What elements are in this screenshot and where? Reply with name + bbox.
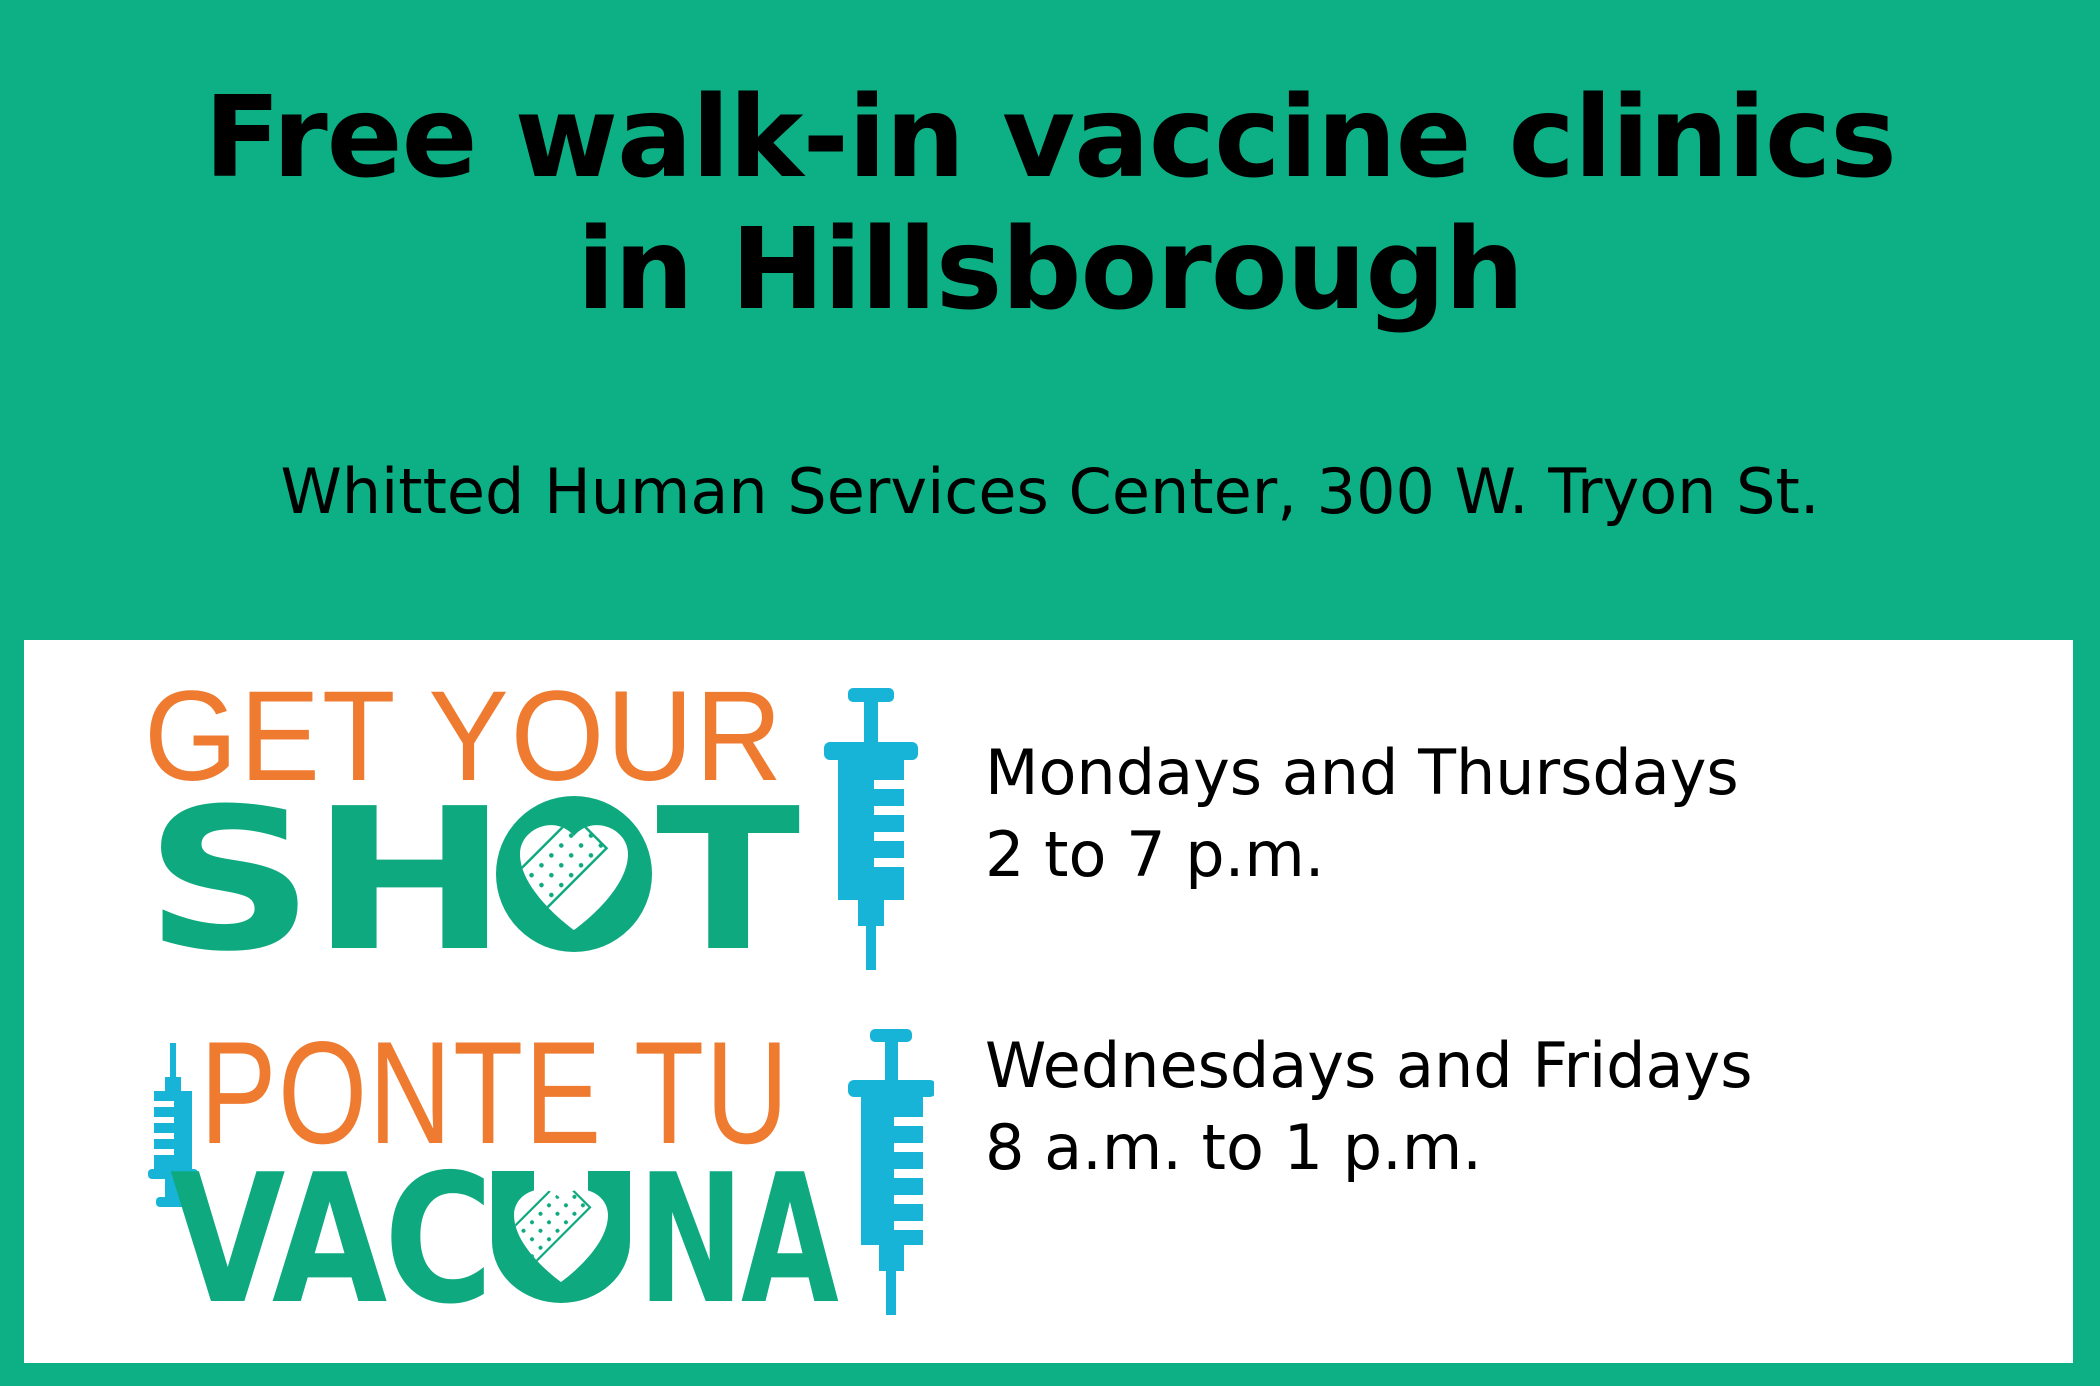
- schedule-hours-1: 2 to 7 p.m.: [985, 814, 2073, 896]
- schedule-days-2: Wednesdays and Fridays: [985, 1025, 2073, 1107]
- syringe-icon: [824, 688, 918, 970]
- logo-es-na: NA: [638, 1136, 838, 1315]
- schedule-entry-2: Wednesdays and Fridays 8 a.m. to 1 p.m.: [985, 1025, 2073, 1190]
- logo-en-word-bottom-group: SH: [144, 767, 800, 970]
- logo-panel: GET YOUR SH: [24, 640, 954, 1363]
- schedule-days-1: Mondays and Thursdays: [985, 732, 2073, 814]
- logo-en-t: T: [656, 767, 800, 970]
- schedule-hours-2: 8 a.m. to 1 p.m.: [985, 1107, 2073, 1189]
- logo-spanish: PONTE TU VAC: [144, 1025, 934, 1315]
- logo-es-vac: VAC: [170, 1136, 490, 1315]
- page-title-line-2: in Hillsborough: [60, 204, 2040, 336]
- get-your-shot-logo: GET YOUR SH: [144, 680, 934, 1330]
- info-card: GET YOUR SH: [24, 640, 2073, 1363]
- logo-english: GET YOUR SH: [144, 680, 934, 970]
- schedule-entry-1: Mondays and Thursdays 2 to 7 p.m.: [985, 732, 2073, 897]
- page-title: Free walk-in vaccine clinics in Hillsbor…: [60, 72, 2040, 336]
- schedule-panel: Mondays and Thursdays 2 to 7 p.m. Wednes…: [954, 640, 2073, 1363]
- heart-bandage-icon: [495, 796, 652, 952]
- vaccine-clinic-poster: Free walk-in vaccine clinics in Hillsbor…: [0, 0, 2100, 1386]
- poster-header: Free walk-in vaccine clinics in Hillsbor…: [0, 0, 2100, 640]
- page-subtitle-location: Whitted Human Services Center, 300 W. Tr…: [60, 455, 2040, 529]
- page-title-line-1: Free walk-in vaccine clinics: [60, 72, 2040, 204]
- syringe-icon: [848, 1029, 934, 1315]
- heart-bandage-icon: [492, 1171, 630, 1303]
- logo-en-sh: SH: [144, 767, 504, 970]
